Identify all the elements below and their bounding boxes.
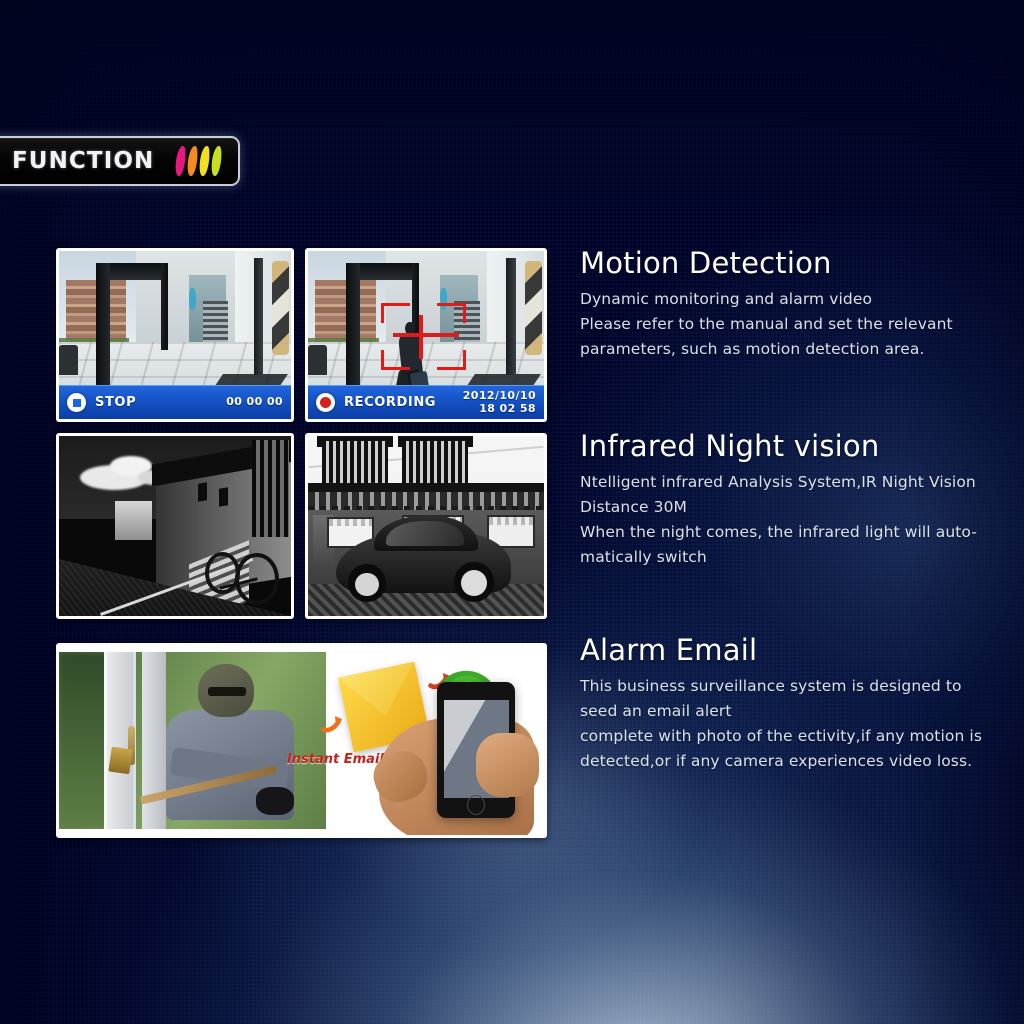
feature-block-motion-detection: Motion Detection Dynamic monitoring and … (580, 246, 953, 362)
feature-line: matically switch (580, 545, 977, 570)
dvr-status-bar-stop: STOP 00 00 00 (59, 385, 291, 419)
feature-line: parameters, such as motion detection are… (580, 337, 953, 362)
scene-trash-bin (308, 345, 327, 375)
feature-line: Distance 30M (580, 495, 977, 520)
thumbnail-alarm-email[interactable]: Instant Email (56, 643, 547, 838)
alley-iron-bars (252, 440, 289, 537)
door-keys (108, 746, 133, 774)
arrow-right-orange-icon (311, 714, 355, 735)
feature-line: complete with photo of the ectivity,if a… (580, 724, 982, 749)
dvr-status-date: 2012/10/10 (463, 389, 536, 402)
function-banner: FUNCTION (0, 136, 240, 186)
stop-square-icon (67, 393, 86, 412)
instant-email-overlay-text: Instant Email (287, 752, 384, 767)
scene-dark-floor-band-2 (467, 374, 541, 386)
feature-title-alarm-email: Alarm Email (580, 633, 982, 667)
record-dot-icon (316, 393, 335, 412)
dvr-status-bar-recording: RECORDING 2012/10/10 18 02 58 (308, 385, 544, 419)
detection-crosshair-horizontal (393, 333, 459, 337)
burglar-eye-slit (208, 687, 245, 696)
feature-title-motion-detection: Motion Detection (580, 246, 953, 280)
dvr-status-datetime: 2012/10/10 18 02 58 (463, 390, 536, 415)
window-curtain-1 (329, 519, 372, 526)
detection-corner-bottom-right (437, 350, 466, 370)
building-ledge (308, 483, 544, 492)
burglar-photo (59, 652, 326, 830)
alley-window-2 (219, 487, 228, 506)
detection-corner-bottom-left (381, 350, 410, 370)
feature-title-infrared-night-vision: Infrared Night vision (580, 429, 977, 463)
night-car-scene (308, 436, 544, 616)
feature-line: This business surveillance system is des… (580, 674, 982, 699)
dvr-status-time: 00 00 00 (226, 396, 283, 409)
balcony-1-railing (322, 441, 388, 484)
alarm-email-scene: Instant Email (59, 646, 544, 835)
dvr-status-label: RECORDING (344, 395, 436, 410)
scene-door-frame-right (161, 263, 168, 350)
smartphone-home-button (467, 795, 486, 816)
function-banner-label: FUNCTION (12, 148, 154, 174)
chevron-stripe-2-icon (186, 146, 199, 176)
alley-far-building (115, 501, 152, 541)
stop-square-glyph (73, 399, 81, 407)
scene-trash-bin (59, 345, 78, 375)
night-alley-scene (59, 436, 291, 616)
chevron-stripe-1-icon (174, 146, 187, 176)
thumbnail-night-car[interactable] (305, 433, 547, 619)
detection-corner-top-right (437, 303, 466, 323)
window-curtain-3 (489, 517, 532, 524)
feature-line: Please refer to the manual and set the r… (580, 312, 953, 337)
chevron-stripe-4-icon (210, 146, 223, 176)
scene-wall-sculpture (525, 261, 542, 355)
feature-line: When the night comes, the infrared light… (580, 520, 977, 545)
thumbnail-motion-recording-image: RECORDING 2012/10/10 18 02 58 (308, 251, 544, 419)
detection-crosshair-vertical (419, 315, 423, 359)
chevron-stripe-3-icon (198, 146, 211, 176)
feature-line: seed an email alert (580, 699, 982, 724)
balcony-2-railing (402, 441, 468, 484)
scene-pillar (506, 258, 515, 376)
detection-corner-top-left (381, 303, 410, 323)
dvr-status-label: STOP (95, 395, 136, 410)
scene-door-frame-left (346, 263, 360, 397)
scene-distant-person (189, 288, 196, 310)
scene-stairs (203, 301, 229, 345)
record-dot-glyph (320, 397, 331, 408)
thumbnail-night-alley-image (59, 436, 291, 616)
dvr-status-time: 18 02 58 (479, 402, 536, 415)
feature-block-alarm-email: Alarm Email This business surveillance s… (580, 633, 982, 774)
burglar-glove (256, 787, 293, 815)
scene-wall-sculpture (272, 261, 288, 355)
scene-dark-floor-band-2 (215, 374, 288, 386)
feature-line: detected,or if any camera experiences vi… (580, 749, 982, 774)
chevron-stripes-icon (176, 146, 221, 176)
thumbnail-alarm-email-image: Instant Email (59, 646, 544, 835)
thumbnail-night-alley[interactable] (56, 433, 294, 619)
thumbnail-night-car-image (308, 436, 544, 616)
thumbnail-motion-recording[interactable]: RECORDING 2012/10/10 18 02 58 (305, 248, 547, 422)
scene-door-frame-left (96, 263, 110, 397)
thumbnail-motion-stop-image: STOP 00 00 00 (59, 251, 291, 419)
feature-block-infrared-night-vision: Infrared Night vision Ntelligent infrare… (580, 429, 977, 570)
feature-line: Dynamic monitoring and alarm video (580, 287, 953, 312)
hand-fingers (476, 733, 539, 797)
alley-window-1 (198, 482, 207, 501)
product-feature-poster: FUNCTION (0, 0, 1024, 1024)
feature-line: Ntelligent infrared Analysis System,IR N… (580, 470, 977, 495)
scene-pillar (254, 258, 263, 376)
thumbnail-motion-stop[interactable]: STOP 00 00 00 (56, 248, 294, 422)
car-hubcap-front (355, 573, 379, 597)
